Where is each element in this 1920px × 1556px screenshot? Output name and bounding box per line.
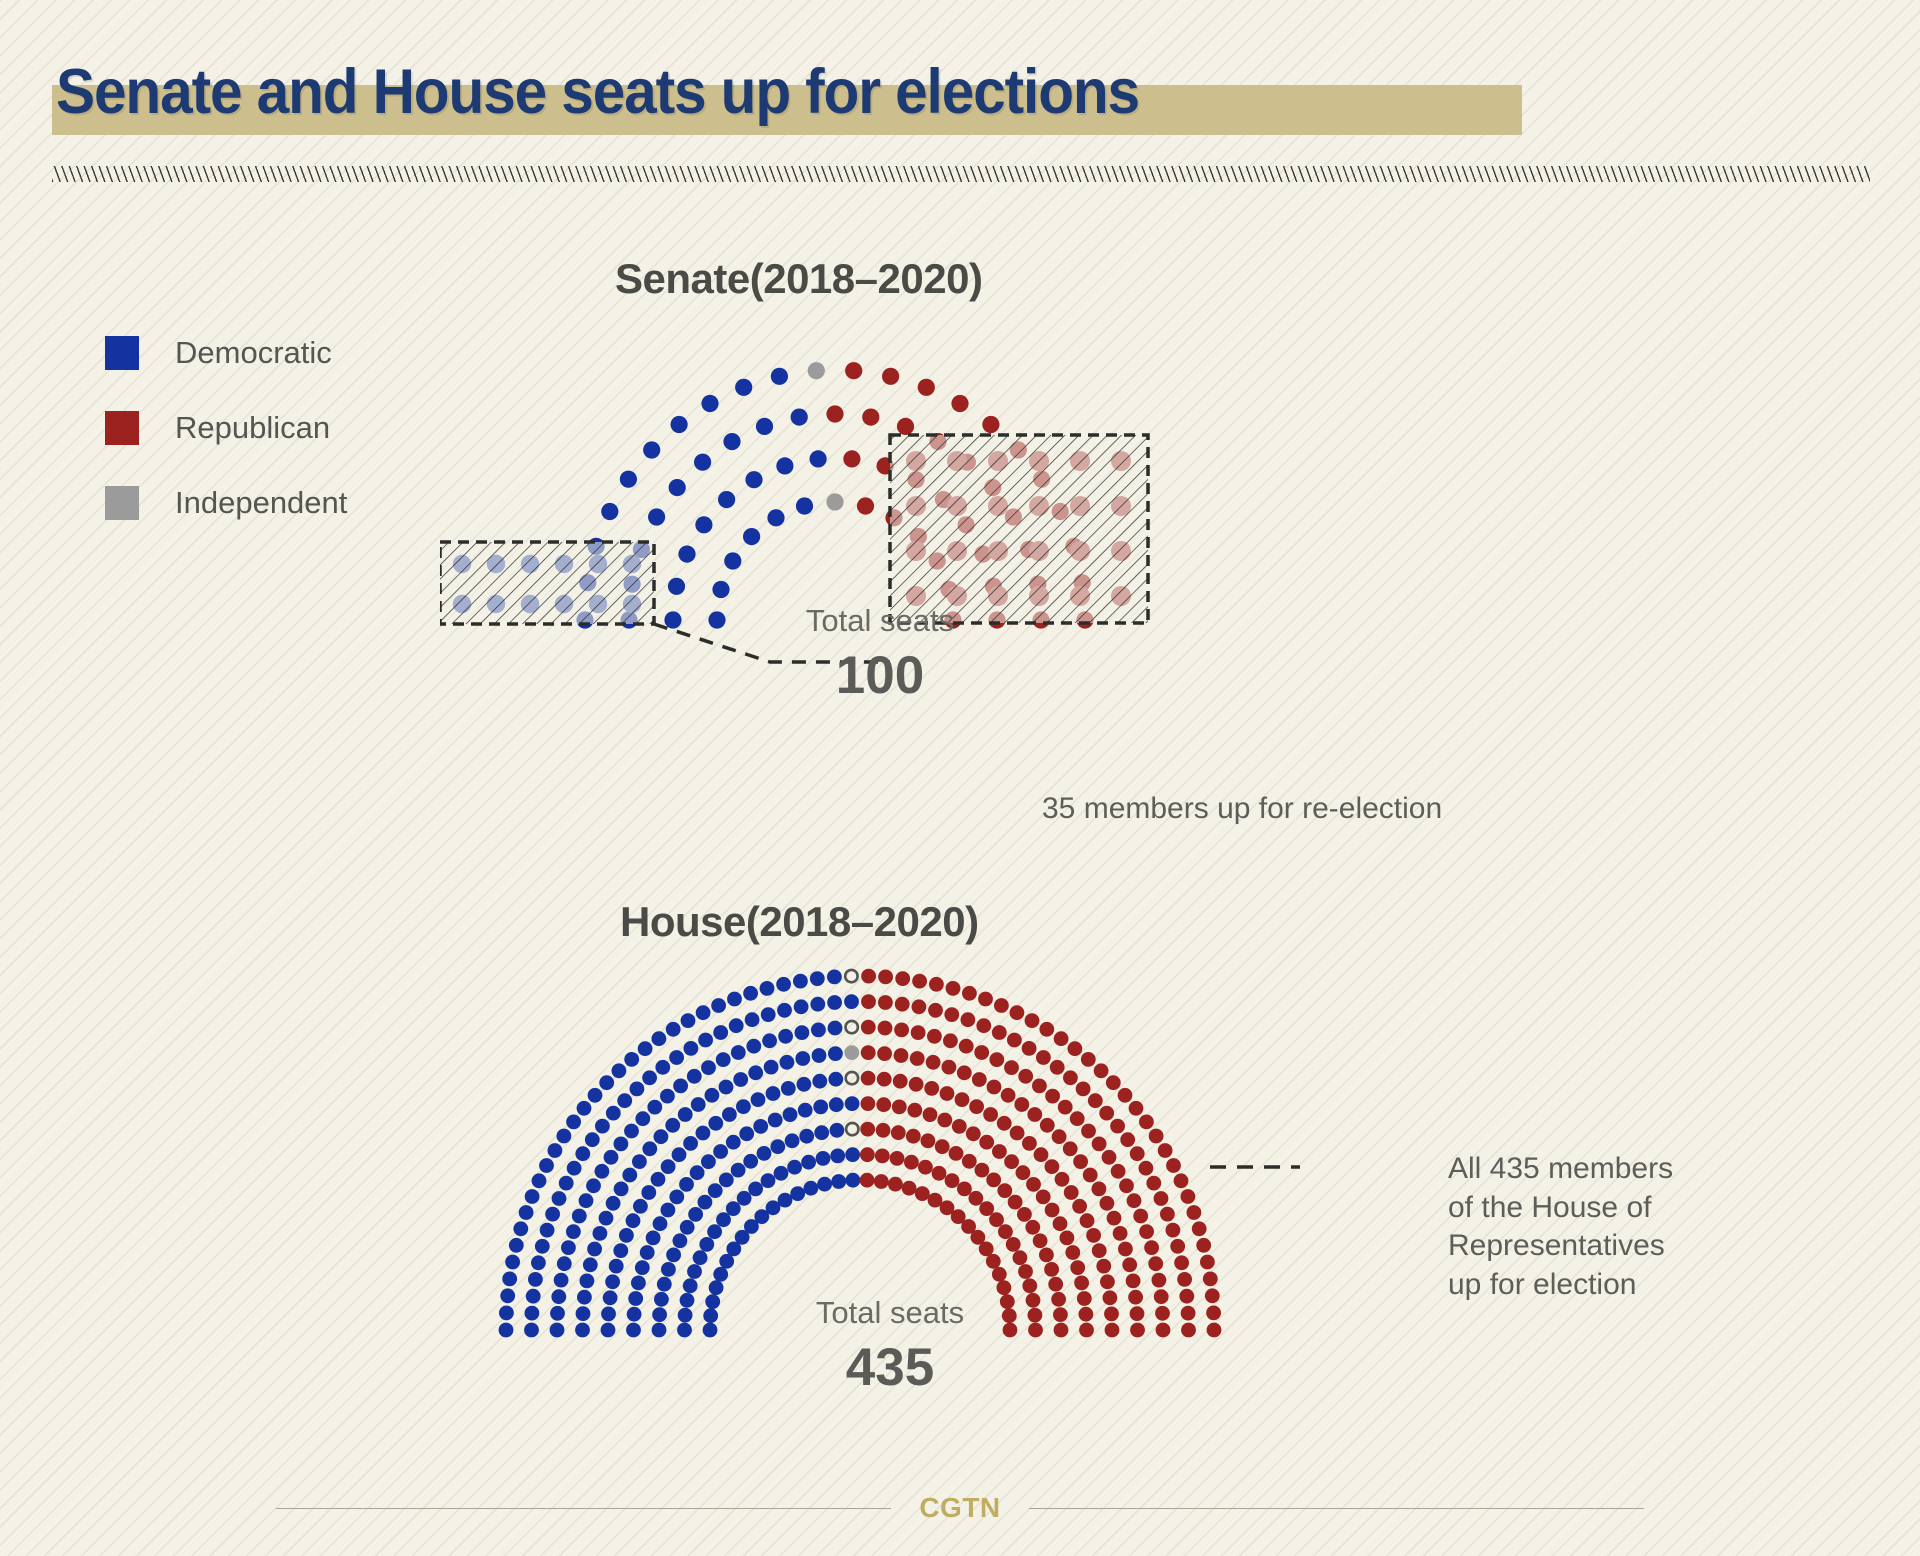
legend-item-republican: Republican <box>105 405 347 451</box>
senate-seat-dot <box>810 450 827 467</box>
house-seat-dot <box>1187 1205 1202 1220</box>
house-seat-dot <box>1160 1207 1175 1222</box>
house-seat-dot <box>955 1092 970 1107</box>
house-seat-dot <box>1118 1088 1133 1103</box>
house-seat-dot <box>577 1290 592 1305</box>
house-seat-dot <box>861 1045 876 1060</box>
house-seat-dot <box>1205 1288 1220 1303</box>
house-seat-dot <box>1139 1224 1154 1239</box>
house-seat-dot <box>572 1209 587 1224</box>
house-seat-dot <box>797 1077 812 1092</box>
house-seat-dot <box>1120 1132 1135 1147</box>
senate-highlight-seat-hatch <box>555 595 573 613</box>
senate-highlight-seat-hatch <box>947 496 967 516</box>
house-seat-dot <box>926 1055 941 1070</box>
house-seat-dot <box>599 1075 614 1090</box>
senate-seat-dot <box>694 454 711 471</box>
house-seat-dot <box>550 1306 565 1321</box>
house-seat-dot <box>672 1147 687 1162</box>
house-seat-dot <box>957 1065 972 1080</box>
senate-seat-dot <box>723 433 740 450</box>
house-seat-dot <box>679 1177 694 1192</box>
senate-highlight-seat-hatch <box>1111 541 1131 561</box>
house-seat-dot <box>790 1186 805 1201</box>
house-seat-dot <box>666 1022 681 1037</box>
house-seat-dot <box>1054 1031 1069 1046</box>
house-seat-dot <box>500 1288 515 1303</box>
house-seat-dot <box>680 1220 695 1235</box>
senate-seat-dot <box>671 416 688 433</box>
house-seat-dot <box>502 1272 517 1287</box>
house-seat-dot <box>764 1060 779 1075</box>
house-seat-dot <box>1100 1196 1115 1211</box>
house-seat-dot <box>778 1029 793 1044</box>
house-seat-dot <box>743 986 758 1001</box>
house-seat-dot <box>681 1013 696 1028</box>
house-seat-dot <box>932 1166 947 1181</box>
house-seat-dot-vacant <box>845 970 857 982</box>
house-seat-dot <box>539 1158 554 1173</box>
house-seat-dot <box>1004 1060 1019 1075</box>
house-seat-dot <box>876 1123 891 1138</box>
house-seat-dot <box>748 1182 763 1197</box>
house-seat-dot <box>1070 1260 1085 1275</box>
senate-seat-dot <box>664 611 681 628</box>
house-seat-dot <box>760 981 775 996</box>
house-seat-dot <box>861 994 876 1009</box>
senate-seat-dot <box>845 362 862 379</box>
house-seat-dot <box>1022 1278 1037 1293</box>
house-seat-dot <box>895 971 910 986</box>
house-seat-dot <box>540 1223 555 1238</box>
house-seat-dot <box>816 1151 831 1166</box>
house-seat-dot <box>1054 1323 1069 1338</box>
house-seat-dot <box>1028 1323 1043 1338</box>
house-seat-dot <box>814 1125 829 1140</box>
house-seat-dot <box>1045 1159 1060 1174</box>
house-seat-dot <box>1206 1306 1221 1321</box>
legend-swatch-republican <box>105 411 139 445</box>
house-seat-dot <box>952 1119 967 1134</box>
house-seat-dot <box>912 974 927 989</box>
house-seat-dot <box>532 1173 547 1188</box>
house-total-value: 435 <box>785 1337 995 1398</box>
house-seat-dot <box>731 1163 746 1178</box>
house-seat-dot <box>828 1072 843 1087</box>
house-seat-dot <box>1004 1154 1019 1169</box>
house-seat-dot <box>635 1260 650 1275</box>
house-seat-dot <box>713 1144 728 1159</box>
header: Senate and House seats up for elections <box>0 0 1920 190</box>
house-seat-dot <box>966 1126 981 1141</box>
house-seat-dot <box>795 1025 810 1040</box>
house-annotation-line: of the House of <box>1448 1189 1778 1228</box>
house-seat-dot <box>687 1069 702 1084</box>
house-seat-dot <box>746 1039 761 1054</box>
house-seat-dot <box>929 977 944 992</box>
house-seat-dot <box>804 1181 819 1196</box>
house-seat-dot <box>1200 1255 1215 1270</box>
house-seat-dot <box>737 1191 752 1206</box>
house-seat-dot <box>1072 1199 1087 1214</box>
house-seat-dot <box>861 969 876 984</box>
house-seat-dot <box>989 1212 1004 1227</box>
senate-democratic-highlight-box <box>440 542 654 624</box>
house-seat-dot <box>946 981 961 996</box>
house-seat-dot <box>1013 1250 1028 1265</box>
house-seat-dot <box>861 1071 876 1086</box>
house-seat-dot <box>912 999 927 1014</box>
senate-seat-dot <box>771 368 788 385</box>
house-seat-dot <box>731 1045 746 1060</box>
senate-highlight-seat-hatch <box>623 595 641 613</box>
house-seat-dot <box>894 1023 909 1038</box>
house-seat-dot <box>979 1242 994 1257</box>
house-seat-dot <box>753 1119 768 1134</box>
house-seat-dot <box>1006 1237 1021 1252</box>
house-seat-dot <box>736 1099 751 1114</box>
house-seat-dot <box>617 1093 632 1108</box>
house-seat-dot <box>739 1126 754 1141</box>
house-seat-dot <box>1130 1146 1145 1161</box>
senate-seat-dot <box>601 503 618 520</box>
senate-highlight-seat-hatch <box>487 595 505 613</box>
legend-swatch-independent <box>105 486 139 520</box>
house-seat-dot <box>1007 1033 1022 1048</box>
house-chart-title: House(2018–2020) <box>620 898 979 946</box>
house-seat-dot <box>660 1089 675 1104</box>
house-seat-dot <box>777 1003 792 1018</box>
house-seat-dot <box>751 1092 766 1107</box>
house-seat-dot <box>1092 1243 1107 1258</box>
house-seat-dot <box>940 1086 955 1101</box>
house-seat-dot <box>1053 1216 1068 1231</box>
house-seat-dot <box>923 1107 938 1122</box>
house-seat-dot <box>1074 1276 1089 1291</box>
house-seat-dot <box>619 1228 634 1243</box>
house-seat-dot <box>895 997 910 1012</box>
senate-highlight-seat-hatch <box>1111 451 1131 471</box>
house-seat-dot <box>1063 1141 1078 1156</box>
senate-highlight-seat-hatch <box>1029 451 1049 471</box>
house-seat-dot <box>567 1161 582 1176</box>
house-seat-dot <box>877 1072 892 1087</box>
house-seat-dot <box>1060 1231 1075 1246</box>
house-seat-dot <box>1022 1041 1037 1056</box>
house-seat-dot <box>1026 1293 1041 1308</box>
house-seat-dot <box>969 1191 984 1206</box>
house-seat-dot <box>627 1307 642 1322</box>
house-seat-dot <box>635 1111 650 1126</box>
house-seat-dot <box>924 1081 939 1096</box>
house-seat-dot <box>1104 1307 1119 1322</box>
house-seat-dot <box>1070 1111 1085 1126</box>
house-seat-dot <box>992 1025 1007 1040</box>
house-seat-dot <box>1080 1213 1095 1228</box>
house-total-block: Total seats 435 <box>785 1295 995 1398</box>
house-seat-dot <box>661 1262 676 1277</box>
house-seat-dot <box>975 1163 990 1178</box>
house-seat-dot-independent <box>844 1045 859 1060</box>
house-seat-dot <box>719 1080 734 1095</box>
house-seat-dot <box>778 1193 793 1208</box>
house-seat-dot <box>526 1289 541 1304</box>
house-seat-dot <box>1181 1323 1196 1338</box>
house-seat-dot <box>1179 1289 1194 1304</box>
house-seat-dot <box>673 1233 688 1248</box>
house-seat-dot <box>1177 1272 1192 1287</box>
house-seat-dot <box>893 1074 908 1089</box>
house-seat-dot <box>1166 1223 1181 1238</box>
senate-highlight-seat-hatch <box>947 541 967 561</box>
house-seat-dot <box>1017 1207 1032 1222</box>
house-seat-dot <box>906 1129 921 1144</box>
house-seat-dot <box>997 1280 1012 1295</box>
house-seat-dot <box>711 998 726 1013</box>
senate-total-value: 100 <box>775 645 985 706</box>
senate-seat-dot <box>826 493 843 510</box>
house-seat-dot <box>624 1124 639 1139</box>
house-seat-dot <box>1130 1323 1145 1338</box>
house-seat-dot <box>860 1122 875 1137</box>
senate-seat-dot <box>897 418 914 435</box>
house-seat-dot <box>577 1101 592 1116</box>
house-seat-dot <box>962 1154 977 1169</box>
house-seat-dot <box>962 986 977 1001</box>
house-seat-dot <box>566 1115 581 1130</box>
house-seat-dot <box>586 1178 601 1193</box>
senate-seat-dot <box>843 450 860 467</box>
house-seat-dot <box>593 1226 608 1241</box>
legend: Democratic Republican Independent <box>105 330 347 555</box>
house-seat-dot <box>780 1055 795 1070</box>
footer-rule-left <box>276 1508 891 1509</box>
house-seat-dot <box>678 1107 693 1122</box>
house-seat-dot <box>974 1045 989 1060</box>
house-seat-dot <box>669 1190 684 1205</box>
house-seat-dot <box>813 1100 828 1115</box>
house-seat-dot <box>992 1267 1007 1282</box>
house-seat-dot <box>669 1050 684 1065</box>
house-seat-dot <box>713 1025 728 1040</box>
legend-item-independent: Independent <box>105 480 347 526</box>
house-seat-dot <box>708 1116 723 1131</box>
house-seat-dot <box>902 1181 917 1196</box>
house-seat-dot <box>1064 1185 1079 1200</box>
house-seat-dot <box>705 1088 720 1103</box>
senate-seat-dot <box>712 581 729 598</box>
house-seat-dot <box>918 1160 933 1175</box>
house-seat-dot <box>766 1086 781 1101</box>
house-seat-dot <box>716 1212 731 1227</box>
house-seat-dot <box>1016 1165 1031 1180</box>
house-seat-dot <box>1146 1176 1161 1191</box>
house-seat-dot <box>799 1129 814 1144</box>
senate-highlight-seat-hatch <box>906 451 926 471</box>
house-seat-dot <box>703 1308 718 1323</box>
senate-seat-dot <box>678 546 695 563</box>
house-seat-dot <box>690 1165 705 1180</box>
house-seat-dot <box>878 1021 893 1036</box>
house-seat-dot <box>1130 1306 1145 1321</box>
house-seat-dot <box>1127 1193 1142 1208</box>
house-seat-dot <box>986 1173 1001 1188</box>
house-seat-dot <box>604 1150 619 1165</box>
legend-label-republican: Republican <box>175 410 330 446</box>
house-seat-dot <box>552 1191 567 1206</box>
house-seat-dot <box>1174 1255 1189 1270</box>
house-seat-dot <box>587 1242 602 1257</box>
house-seat-dot <box>1010 1005 1025 1020</box>
house-seat-dot <box>745 1012 760 1027</box>
house-seat-dot <box>817 1177 832 1192</box>
house-seat-dot <box>860 1173 875 1188</box>
house-seat-dot <box>595 1164 610 1179</box>
house-seat-dot <box>606 1196 621 1211</box>
house-seat-dot <box>588 1088 603 1103</box>
house-seat-dot <box>1036 1190 1051 1205</box>
house-seat-dot <box>1154 1289 1169 1304</box>
house-seat-dot <box>795 1051 810 1066</box>
house-seat-dot <box>1181 1189 1196 1204</box>
house-seat-dot <box>528 1272 543 1287</box>
house-seat-dot <box>579 1193 594 1208</box>
house-seat-dot <box>1129 1101 1144 1116</box>
house-seat-dot <box>638 1041 653 1056</box>
house-seat-dot <box>921 1133 936 1148</box>
house-seat-dot <box>846 1173 861 1188</box>
house-seat-dot <box>845 1147 860 1162</box>
house-seat-dot <box>959 1039 974 1054</box>
legend-label-independent: Independent <box>175 485 347 521</box>
house-seat-dot <box>609 1259 624 1274</box>
house-seat-dot <box>499 1306 514 1321</box>
house-seat-dot <box>595 1119 610 1134</box>
house-seat-dot <box>828 1021 843 1036</box>
house-seat-dot <box>801 1155 816 1170</box>
senate-highlight-seat-hatch <box>988 496 1008 516</box>
cgtn-logo: CGTN <box>919 1492 1000 1524</box>
house-seat-dot <box>812 1048 827 1063</box>
house-seat-dot <box>830 1123 845 1138</box>
house-seat-dot <box>722 1107 737 1122</box>
house-seat-dot <box>811 1023 826 1038</box>
house-seat-dot <box>1040 1118 1055 1133</box>
house-seat-dot <box>585 1132 600 1147</box>
house-seat-dot <box>1079 1323 1094 1338</box>
house-seat-dot <box>701 1154 716 1169</box>
house-seat-dot <box>525 1189 540 1204</box>
senate-highlight-seat-hatch <box>1070 586 1090 606</box>
house-seat-dot <box>876 1097 891 1112</box>
house-seat-dot <box>646 1231 661 1246</box>
senate-highlight-seat-hatch <box>1029 496 1049 516</box>
house-seat-dot <box>1144 1240 1159 1255</box>
house-seat-dot <box>727 992 742 1007</box>
house-seat-dot <box>698 1195 713 1210</box>
house-annotation-line: Representatives <box>1448 1227 1778 1266</box>
house-seat-dot <box>726 1201 741 1216</box>
house-seat-dot <box>894 1048 909 1063</box>
house-seat-dot <box>696 1005 711 1020</box>
house-seat-dot <box>1113 1226 1128 1241</box>
senate-highlight-seat-hatch <box>1029 586 1049 606</box>
house-seat-dot <box>614 1182 629 1197</box>
house-seat-dot <box>1192 1221 1207 1236</box>
house-seat-dot <box>1174 1173 1189 1188</box>
senate-seat-dot <box>724 552 741 569</box>
house-seat-dot <box>793 974 808 989</box>
house-seat-dot <box>878 995 893 1010</box>
senate-seat-dot <box>743 528 760 545</box>
house-seat-dot <box>557 1129 572 1144</box>
house-seat-dot <box>909 1077 924 1092</box>
house-seat-dot <box>1048 1277 1063 1292</box>
house-seat-dot <box>683 1278 698 1293</box>
house-seat-dot <box>513 1221 528 1236</box>
house-seat-dot <box>844 994 859 1009</box>
house-seat-dot <box>525 1306 540 1321</box>
house-seat-dot <box>624 1052 639 1067</box>
senate-highlight-seat-hatch <box>1029 541 1049 561</box>
house-seat-dot <box>1088 1093 1103 1108</box>
house-seat-dot <box>957 1182 972 1197</box>
house-seat-dot <box>983 1107 998 1122</box>
house-seat-dot <box>531 1255 546 1270</box>
house-seat-dot <box>652 1031 667 1046</box>
house-seat-dot <box>1053 1307 1068 1322</box>
house-seat-dot <box>1099 1106 1114 1121</box>
house-seat-dot <box>1001 1088 1016 1103</box>
house-seat-dot <box>798 1103 813 1118</box>
house-seat-dot <box>580 1274 595 1289</box>
house-seat-dot <box>1008 1195 1023 1210</box>
house-seat-dot <box>978 992 993 1007</box>
house-seat-dot <box>548 1143 563 1158</box>
senate-seat-dot <box>620 471 637 488</box>
house-seat-dot <box>1051 1292 1066 1307</box>
house-seat-dot <box>969 1099 984 1114</box>
house-seat-dot <box>683 1136 698 1151</box>
house-seat-dot <box>557 1256 572 1271</box>
house-seat-dot <box>757 1146 772 1161</box>
senate-total-block: Total seats 100 <box>775 603 985 706</box>
house-seat-dot <box>576 1306 591 1321</box>
house-seat-dot <box>861 1020 876 1035</box>
house-seat-dot <box>1128 1290 1143 1305</box>
house-seat-dot <box>680 1293 695 1308</box>
house-seat-dot <box>1092 1182 1107 1197</box>
house-seat-dot <box>845 1096 860 1111</box>
house-seat-dot <box>781 1081 796 1096</box>
house-seat-dot <box>1096 1259 1111 1274</box>
house-seat-dot <box>698 1033 713 1048</box>
house-seat-dot <box>783 1107 798 1122</box>
senate-highlight-seat-hatch <box>1070 541 1090 561</box>
senate-total-label: Total seats <box>775 603 985 639</box>
house-seat-dot <box>630 1082 645 1097</box>
house-seat-dot <box>566 1224 581 1239</box>
senate-seat-dot <box>745 471 762 488</box>
house-seat-dot <box>545 1207 560 1222</box>
legend-item-democratic: Democratic <box>105 330 347 376</box>
house-seat-dot <box>601 1323 616 1338</box>
senate-highlight-seat-hatch <box>1111 586 1131 606</box>
house-seat-dot <box>911 1025 926 1040</box>
house-seat-dot <box>583 1257 598 1272</box>
house-seat-dot <box>1181 1306 1196 1321</box>
house-seat-dot <box>691 1097 706 1112</box>
